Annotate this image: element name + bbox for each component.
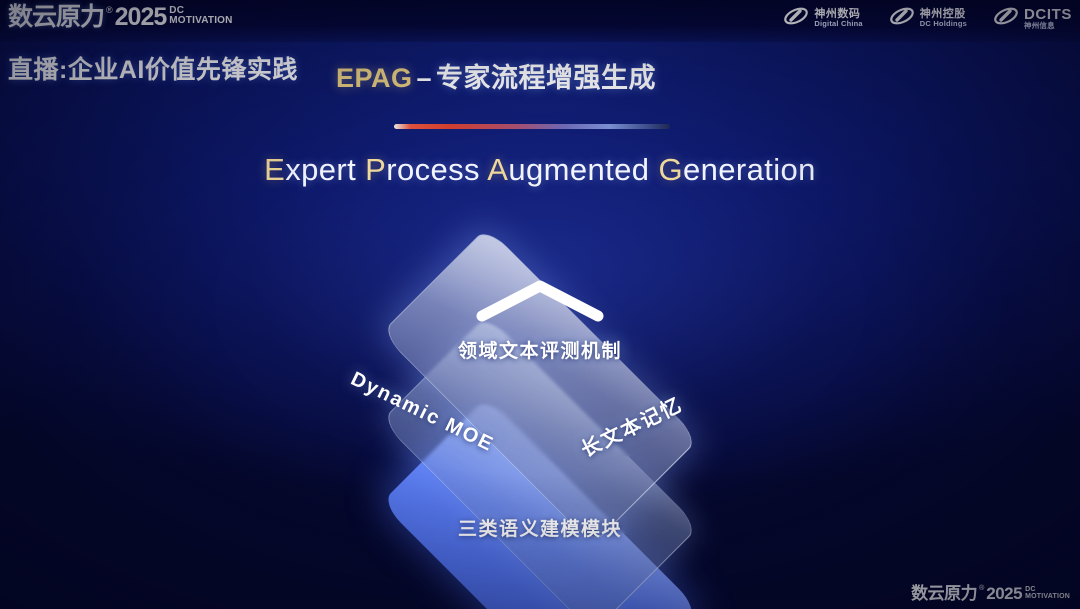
brand-dc-motivation: DC MOTIVATION bbox=[169, 6, 232, 26]
subtitle-rest-process: rocess bbox=[386, 152, 487, 187]
watermark-dc-text: DC bbox=[1025, 586, 1070, 593]
layer-label-bottom: 三类语义建模模块 bbox=[458, 514, 622, 541]
partner-logo-digital-china: 神州数码 Digital China bbox=[783, 5, 862, 32]
subtitle-cap-a: A bbox=[487, 152, 508, 187]
watermark-year: 2025 bbox=[986, 584, 1022, 603]
subtitle-rest-generation: eneration bbox=[683, 152, 816, 187]
partner-logo-group: 神州数码 Digital China 神州控股 DC Holdings bbox=[783, 5, 1072, 32]
registered-mark: ® bbox=[106, 4, 113, 16]
partner-name-en: 神州信息 bbox=[1024, 22, 1072, 30]
watermark-registered-mark: ® bbox=[979, 584, 984, 593]
page-title: EPAG–专家流程增强生成 bbox=[336, 56, 656, 95]
brand-name-cn: 数云原力 bbox=[8, 4, 104, 31]
watermark-name-cn: 数云原力 bbox=[911, 584, 977, 603]
swirl-icon bbox=[889, 5, 915, 32]
partner-name-en: Digital China bbox=[814, 20, 862, 28]
chevron-up-icon bbox=[474, 276, 606, 329]
page-subtitle: Expert Process Augmented Generation bbox=[0, 152, 1080, 188]
subtitle-cap-g: G bbox=[658, 152, 683, 187]
title-chinese: 专家流程增强生成 bbox=[436, 63, 656, 93]
subtitle-rest-expert: xpert bbox=[285, 152, 365, 187]
watermark-logo: 数云原力 ® 2025 DC MOTIVATION bbox=[911, 584, 1070, 603]
partner-name-en: DC Holdings bbox=[920, 20, 967, 28]
swirl-icon bbox=[783, 5, 809, 32]
subtitle-rest-augmented: ugmented bbox=[508, 152, 658, 187]
subtitle-cap-e: E bbox=[264, 152, 285, 187]
watermark-dc-motivation: DC MOTIVATION bbox=[1025, 586, 1070, 600]
accent-gradient-bar bbox=[394, 124, 670, 129]
layer-stack-diagram: 领域文本评测机制 Dynamic MOE 长文本记忆 三类语义建模模块 bbox=[260, 236, 820, 576]
slide-canvas: 数云原力 ® 2025 DC MOTIVATION 直播:企业AI价值先锋实践 … bbox=[0, 0, 1080, 609]
partner-logo-dc-holdings: 神州控股 DC Holdings bbox=[889, 5, 967, 32]
watermark-motivation-text: MOTIVATION bbox=[1025, 593, 1070, 600]
title-acronym: EPAG bbox=[336, 63, 413, 93]
live-broadcast-title: 直播:企业AI价值先锋实践 bbox=[8, 50, 298, 86]
title-dash: – bbox=[413, 63, 437, 93]
brand-year: 2025 bbox=[115, 4, 167, 31]
swirl-icon bbox=[993, 5, 1019, 32]
subtitle-cap-p: P bbox=[365, 152, 386, 187]
layer-label-top: 领域文本评测机制 bbox=[458, 336, 622, 363]
partner-logo-dcits: DCITS 神州信息 bbox=[993, 5, 1072, 32]
brand-motivation-text: MOTIVATION bbox=[169, 16, 232, 26]
brand-logo: 数云原力 ® 2025 DC MOTIVATION bbox=[8, 4, 233, 31]
